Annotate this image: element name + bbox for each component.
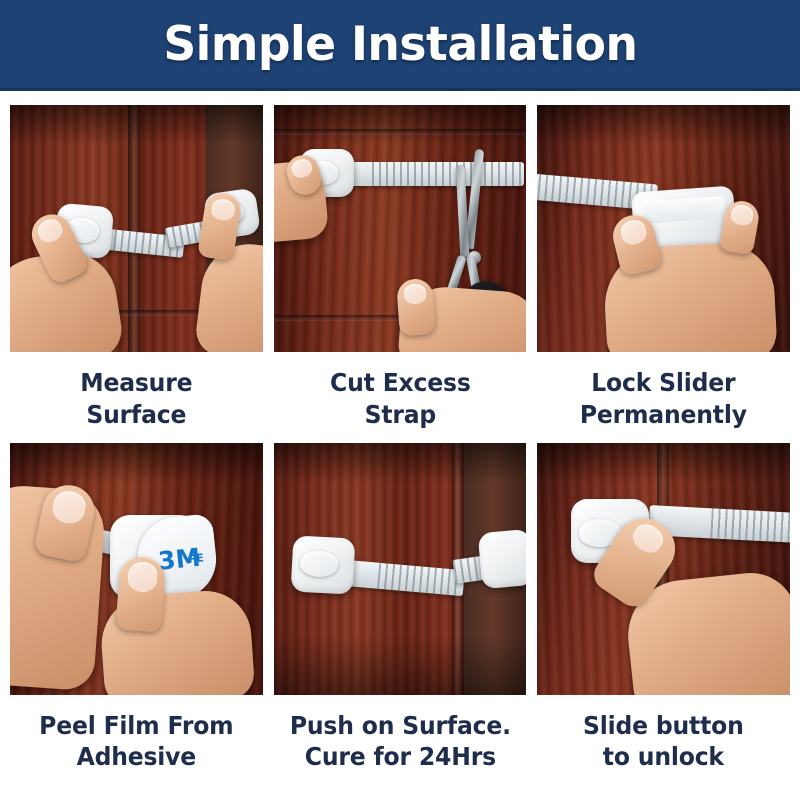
step-photo-lock-slider-permanently [537,105,790,352]
photo-top-shadow [537,105,790,145]
step-photo-measure-surface [10,105,263,352]
header-banner: Simple Installation [0,0,800,88]
photo-top-shadow [274,105,527,145]
strap-ribs [711,508,790,543]
step-photo-peel-film-from-adhesive: 3M PE [10,443,263,695]
caption-line: Cut Excess [281,367,519,399]
step-card-push-on-surface-cure: Push on Surface. Cure for 24Hrs [274,443,527,786]
photo-top-shadow [10,443,263,483]
step-card-measure-surface: Measure Surface [10,105,263,443]
fingernail [730,203,755,227]
caption-line: Permanently [545,399,783,431]
photo-bottom-shadow [274,635,527,695]
caption-line: Cure for 24Hrs [281,741,519,773]
caption-line: Adhesive [18,741,255,773]
step-caption-peel-film-from-adhesive: Peel Film From Adhesive [18,695,255,773]
fingernail [629,519,668,557]
photo-top-shadow [10,105,263,145]
liner-sub-text: PE [188,552,205,565]
page-title: Simple Installation [163,17,637,72]
caption-line: to unlock [545,741,783,773]
step-caption-cut-excess-strap: Cut Excess Strap [281,352,519,430]
installation-infographic: Simple Installation [0,0,800,800]
photo-top-shadow [274,443,527,483]
slider-button [642,196,725,224]
caption-line: Lock Slider [545,367,783,399]
caption-line: Surface [18,399,255,431]
caption-line: Slide button [545,710,783,742]
lock-base-right [477,528,526,588]
thumb-right [115,555,166,632]
step-caption-measure-surface: Measure Surface [18,352,255,430]
steps-grid: Measure Surface [10,105,790,785]
caption-line: Peel Film From [18,710,255,742]
photo-top-shadow [537,443,790,483]
step-card-lock-slider-permanently: Lock Slider Permanently [537,105,790,443]
thumb-right [396,278,436,336]
fingernail [35,216,66,246]
fingernail [50,488,88,526]
fingernail [210,198,236,222]
step-caption-push-on-surface-cure: Push on Surface. Cure for 24Hrs [281,695,519,773]
fingernail [127,561,158,593]
step-caption-lock-slider-permanently: Lock Slider Permanently [545,352,783,430]
step-photo-slide-button-to-unlock [537,443,790,695]
step-card-peel-film-from-adhesive: 3M PE Peel Film From Adhesive [10,443,263,786]
header-divider [0,88,800,91]
step-card-slide-button-to-unlock: Slide button to unlock [537,443,790,786]
fingernail [619,218,649,247]
lock-knob [299,549,338,577]
step-card-cut-excess-strap: Cut Excess Strap [274,105,527,443]
caption-line: Strap [281,399,519,431]
lock-base-left [290,535,355,594]
step-photo-push-on-surface-cure [274,443,527,695]
step-photo-cut-excess-strap [274,105,527,352]
caption-line: Measure [18,367,255,399]
strap-ribs [372,162,524,186]
fingernail [289,157,314,180]
fingernail [403,283,426,304]
caption-line: Push on Surface. [281,710,519,742]
step-caption-slide-button-to-unlock: Slide button to unlock [545,695,783,773]
